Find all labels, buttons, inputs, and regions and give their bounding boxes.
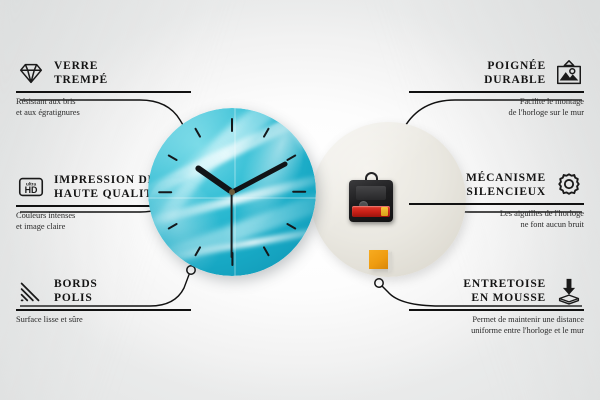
feature-rule <box>409 309 584 311</box>
svg-text:HD: HD <box>25 185 38 195</box>
feature-rule <box>409 91 584 93</box>
feature-header: VERRE TREMPÉ <box>16 58 191 88</box>
feature-description: Facilite le montage de l'horloge sur le … <box>409 96 584 119</box>
clock-center-pin <box>229 189 235 195</box>
feature-header: POIGNÉE DURABLE <box>409 58 584 88</box>
feature-title: POIGNÉE DURABLE <box>484 59 546 87</box>
feature-header: ENTRETOISE EN MOUSSE <box>409 276 584 306</box>
feature-rule <box>409 203 584 205</box>
leader-dot-entretoise <box>375 279 383 287</box>
feature-title: ENTRETOISE EN MOUSSE <box>463 277 546 305</box>
feature-description: Résistant aux bris et aux égratignures <box>16 96 191 119</box>
picture-frame-icon <box>554 58 584 88</box>
feature-description: Permet de maintenir une distance uniform… <box>409 314 584 337</box>
feature-description: Les aiguilles de l'horloge ne font aucun… <box>409 208 584 231</box>
feature-title: MÉCANISME SILENCIEUX <box>466 171 546 199</box>
infographic-canvas: VERRE TREMPÉ Résistant aux bris et aux é… <box>0 0 600 400</box>
ultra-hd-icon: ultra HD <box>16 172 46 202</box>
foam-spacer <box>369 250 388 269</box>
feature-header: MÉCANISME SILENCIEUX <box>409 170 584 200</box>
clock-second-hand <box>231 192 233 258</box>
feature-rule <box>16 309 191 311</box>
gear-icon <box>554 170 584 200</box>
feature-block-bords-polis: BORDS POLIS Surface lisse et sûre <box>16 276 191 325</box>
polished-edges-icon <box>16 276 46 306</box>
feature-title: BORDS POLIS <box>54 277 98 305</box>
battery <box>352 206 390 217</box>
clock-mechanism <box>349 180 393 222</box>
foam-spacer-icon <box>554 276 584 306</box>
feature-title: VERRE TREMPÉ <box>54 59 108 87</box>
diamond-icon <box>16 58 46 88</box>
mechanism-dial <box>356 186 386 200</box>
clock-front <box>148 108 316 276</box>
feature-title: IMPRESSION DE HAUTE QUALITÉ <box>54 173 161 201</box>
feature-rule <box>16 91 191 93</box>
feature-block-verre-trempe: VERRE TREMPÉ Résistant aux bris et aux é… <box>16 58 191 118</box>
feature-block-mecanisme-silencieux: MÉCANISME SILENCIEUX Les aiguilles de l'… <box>409 170 584 230</box>
feature-header: BORDS POLIS <box>16 276 191 306</box>
feature-block-entretoise-mousse: ENTRETOISE EN MOUSSE Permet de maintenir… <box>409 276 584 336</box>
feature-block-poignee-durable: POIGNÉE DURABLE Facilite le montage de l… <box>409 58 584 118</box>
feature-description: Surface lisse et sûre <box>16 314 191 325</box>
